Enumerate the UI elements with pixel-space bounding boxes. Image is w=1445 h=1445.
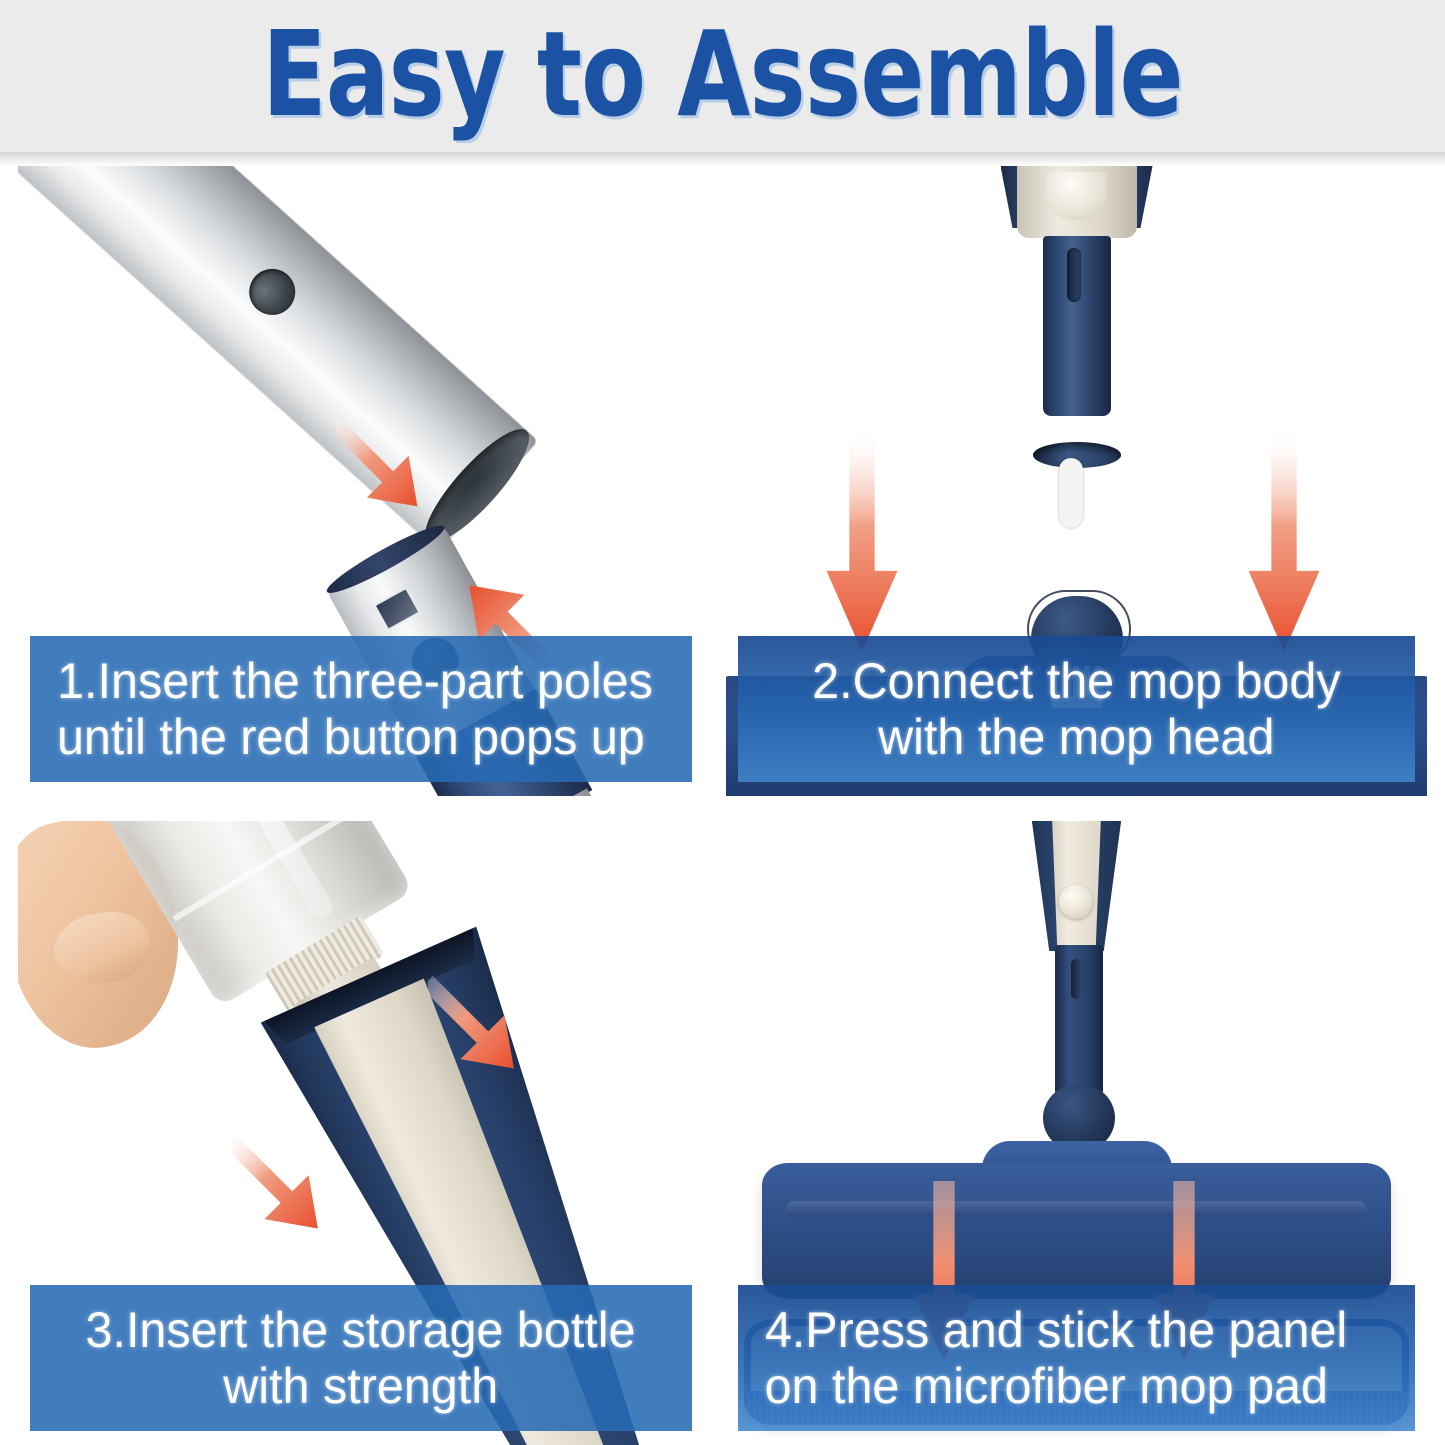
- mop-head-socket-slot-icon: [1059, 458, 1083, 528]
- step-panel-4: 4.Press and stick the panel on the micro…: [726, 821, 1427, 1445]
- step-3-caption: 3.Insert the storage bottle with strengt…: [30, 1285, 692, 1431]
- page-title: Easy to Assemble: [262, 15, 1183, 133]
- step-2-caption: 2.Connect the mop body with the mop head: [738, 636, 1415, 782]
- step-1-caption-line-2: until the red button pops up: [47, 709, 645, 765]
- easy-to-assemble-infographic: Easy to Assemble: [0, 0, 1445, 1445]
- pole-collar-icon: [322, 518, 449, 600]
- step-panel-3: 3.Insert the storage bottle with strengt…: [18, 821, 704, 1445]
- header-shadow: [0, 152, 1445, 166]
- arrow-down-right-icon: [1246, 434, 1322, 654]
- mop-body-tube-slot-icon: [1067, 248, 1081, 302]
- arrow-down-left-icon: [824, 434, 900, 654]
- pole-upper-section-icon: [18, 166, 538, 551]
- step-3-caption-line-1: 3.Insert the storage bottle: [86, 1302, 636, 1358]
- mop-body-tube-slot-icon: [1071, 959, 1081, 999]
- steps-grid: 1.Insert the three-part poles until the …: [0, 166, 1445, 1445]
- step-4-caption-line-2: on the microfiber mop pad: [755, 1358, 1328, 1414]
- handle-button-icon: [1059, 885, 1093, 919]
- pole-button-hole-icon: [240, 259, 305, 324]
- step-panel-2: 2.Connect the mop body with the mop head: [726, 166, 1427, 796]
- mop-body-tube-icon: [1043, 236, 1111, 416]
- pole-square-detail-icon: [373, 587, 421, 632]
- step-4-caption: 4.Press and stick the panel on the micro…: [738, 1285, 1415, 1431]
- mop-plate-icon: [762, 1163, 1391, 1299]
- step-2-caption-line-1: 2.Connect the mop body: [812, 653, 1340, 709]
- step-4-caption-line-1: 4.Press and stick the panel: [755, 1302, 1347, 1358]
- step-panel-1: 1.Insert the three-part poles until the …: [18, 166, 704, 796]
- step-2-caption-line-2: with the mop head: [878, 709, 1274, 765]
- mop-body-tube-icon: [1055, 945, 1103, 1095]
- step-3-caption-line-2: with strength: [224, 1358, 499, 1414]
- step-1-caption: 1.Insert the three-part poles until the …: [30, 636, 692, 782]
- mop-body-knob-icon: [1047, 172, 1107, 220]
- step-1-caption-line-1: 1.Insert the three-part poles: [47, 653, 653, 709]
- header-banner: Easy to Assemble: [0, 0, 1445, 152]
- mop-plate-groove-icon: [786, 1201, 1367, 1217]
